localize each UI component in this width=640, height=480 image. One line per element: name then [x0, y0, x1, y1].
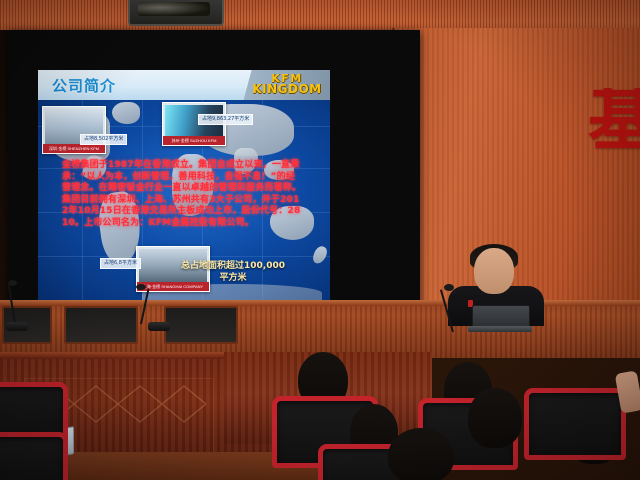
- thumbnail-caption: 苏州·金榜 SUZHOU KFM: [163, 136, 225, 145]
- thumbnail-area-label-suzhou: 占地9,863.27平方米: [198, 114, 253, 125]
- slide-footer-line2: 平方米: [148, 272, 318, 284]
- thumbnail-area-label-shanghai: 占地6,8平方米: [100, 258, 141, 269]
- mic-base: [6, 322, 28, 331]
- audience-head: [388, 428, 454, 480]
- mic-base: [148, 322, 170, 331]
- presenter-head: [474, 248, 514, 294]
- slide-body-worldmap: 深圳·金榜 SHENZHEN KFM 占地8,502平方米 苏州·金榜 SUZH…: [38, 100, 330, 300]
- thumbnail-caption: 深圳·金榜 SHENZHEN KFM: [43, 144, 105, 153]
- company-logo: KFM KINGDOM: [250, 73, 324, 99]
- stage-chair: [64, 306, 138, 344]
- presenter-mic-head: [444, 284, 454, 291]
- wall-red-character: 基: [588, 88, 640, 154]
- ceiling-projector-housing: [128, 0, 224, 26]
- presentation-slide: 公司简介 KFM KINGDOM: [38, 70, 330, 300]
- auditorium-seat: [524, 388, 626, 460]
- slide-paragraph-text: 金榜集团于1987年在香港成立。集团自成立以来，一直秉承：“以人为本，创新管理，…: [62, 160, 302, 229]
- auditorium-seat: [0, 432, 68, 480]
- laptop-keyboard: [468, 326, 532, 332]
- gooseneck-mic-head: [8, 280, 17, 286]
- stage-chair: [164, 306, 238, 344]
- presenter-laptop: [468, 305, 532, 333]
- slide-title: 公司简介: [52, 75, 116, 96]
- thumbnail-shenzhen-building: 深圳·金榜 SHENZHEN KFM: [42, 106, 106, 154]
- gooseneck-mic-head: [136, 284, 146, 290]
- slide-header-band: 公司简介 KFM KINGDOM: [38, 70, 330, 100]
- conference-room-photo: 基 公司简介 KFM KINGDOM: [0, 0, 640, 480]
- presenter-speaker: [452, 248, 538, 310]
- continent-greenland: [112, 102, 140, 124]
- slide-footer-line1: 总占地面积超过100,000: [148, 260, 318, 272]
- audience-head: [468, 388, 522, 448]
- thumbnail-area-label-shenzhen: 占地8,502平方米: [80, 134, 127, 145]
- logo-line-kingdom: KINGDOM: [250, 84, 324, 95]
- slide-footer-text: 总占地面积超过100,000 平方米: [148, 260, 318, 284]
- projection-screen: 公司简介 KFM KINGDOM: [8, 30, 420, 336]
